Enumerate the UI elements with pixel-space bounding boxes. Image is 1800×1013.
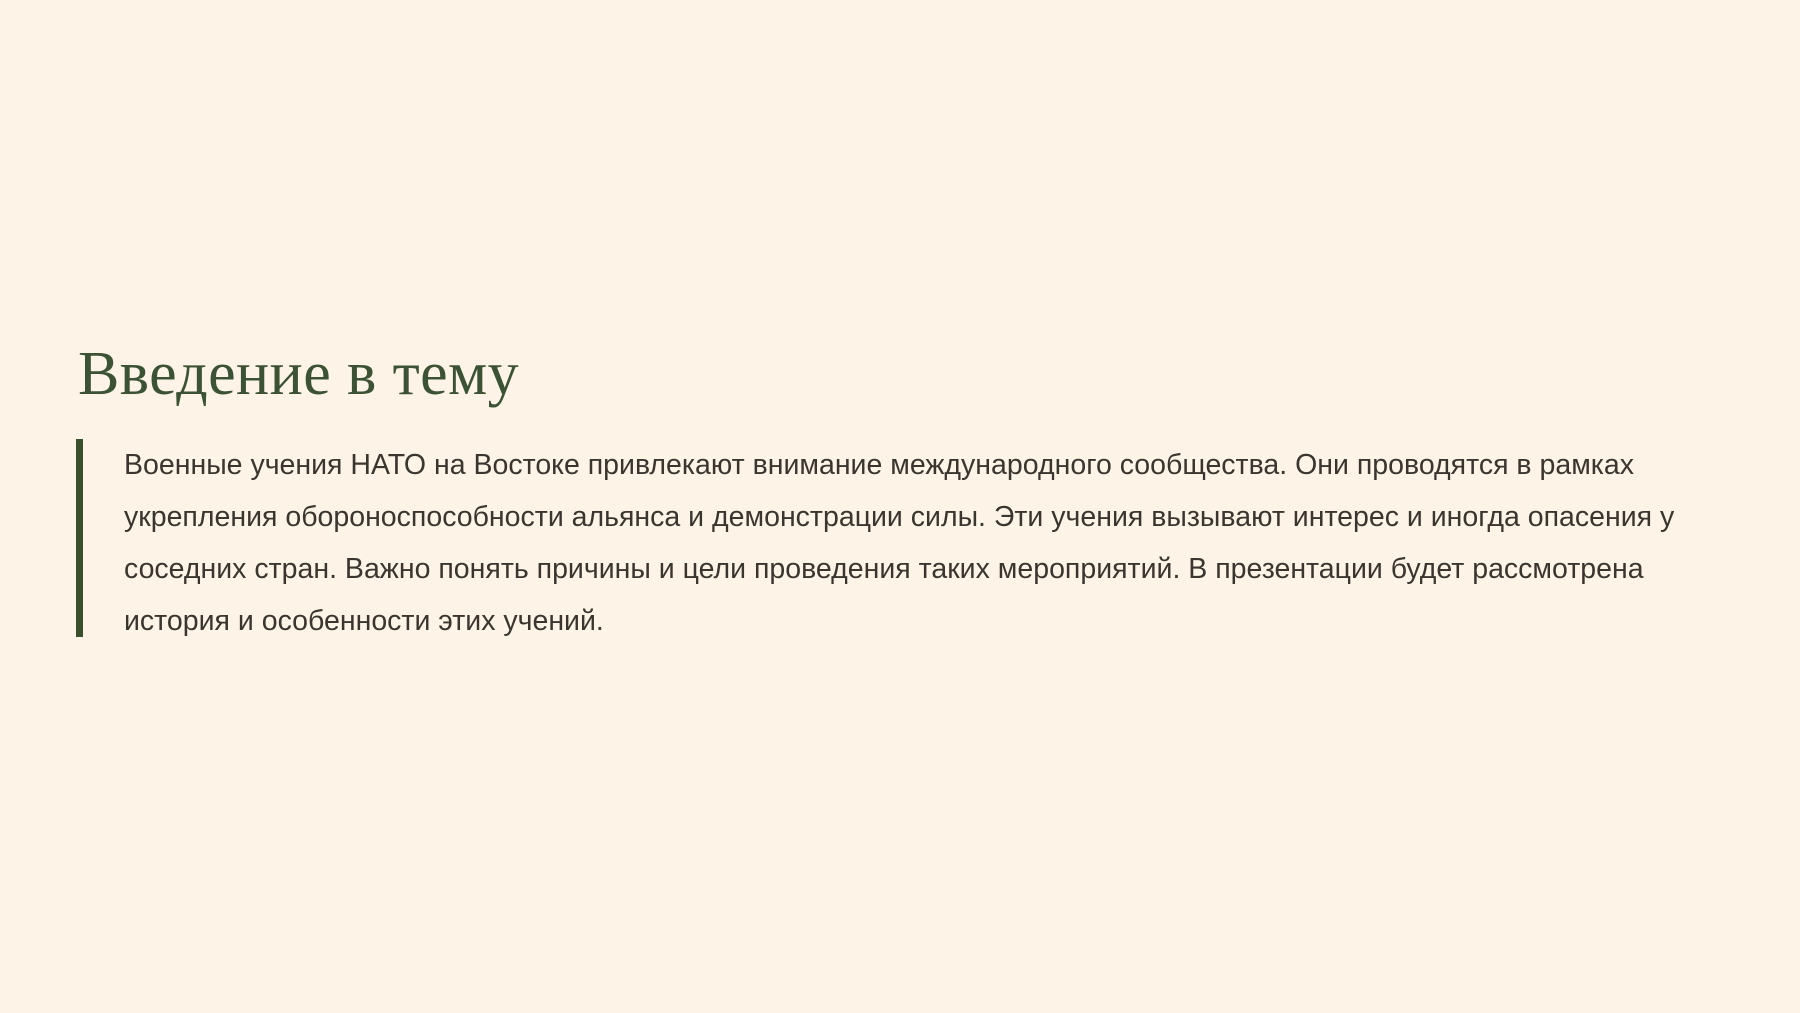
body-paragraph: Военные учения НАТО на Востоке привлекаю…	[124, 439, 1676, 647]
slide-content: Введение в тему Военные учения НАТО на В…	[76, 340, 1676, 647]
accent-bar	[76, 439, 83, 637]
body-block: Военные учения НАТО на Востоке привлекаю…	[76, 439, 1676, 647]
slide-canvas: Введение в тему Военные учения НАТО на В…	[0, 0, 1800, 1013]
page-title: Введение в тему	[76, 340, 1676, 409]
